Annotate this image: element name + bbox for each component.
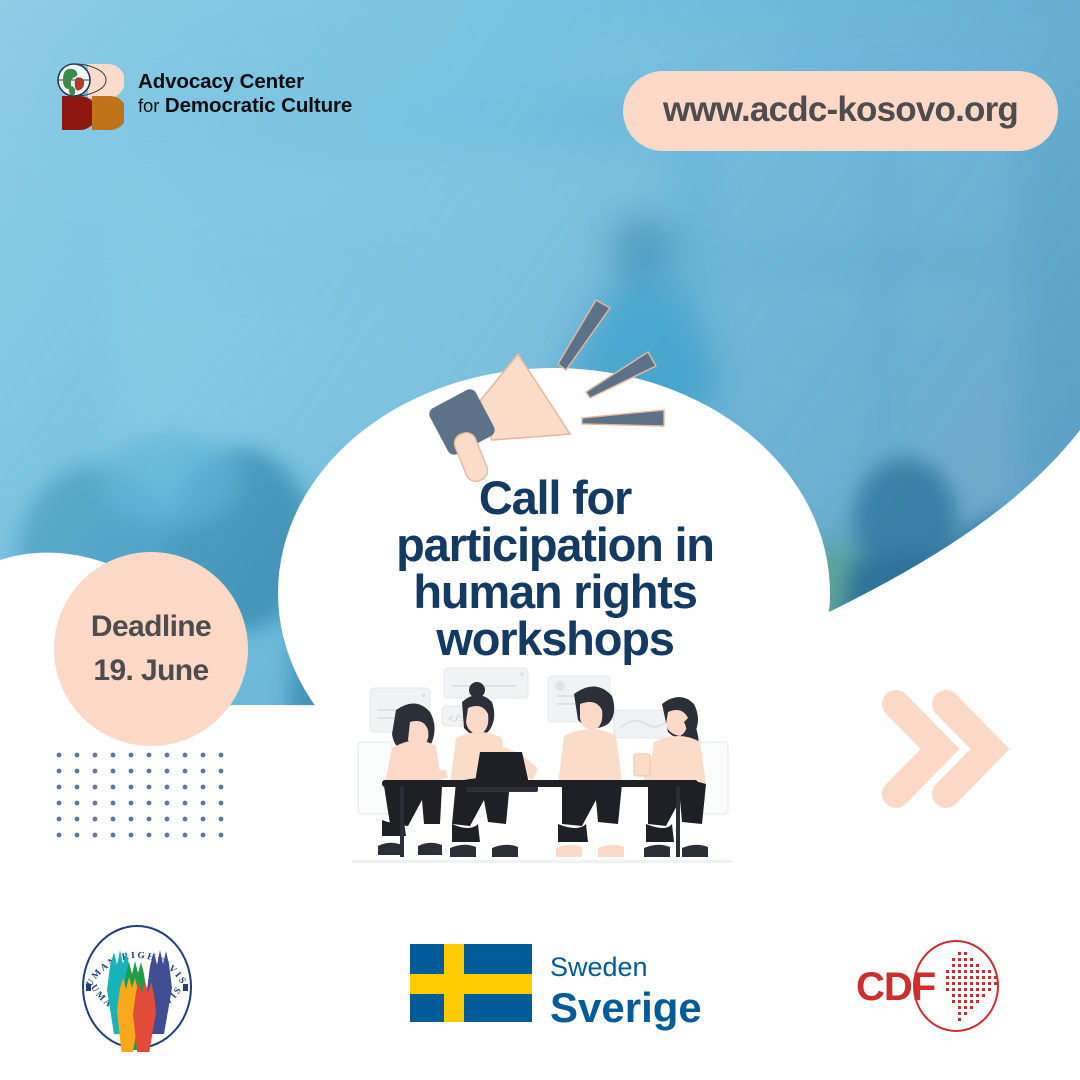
deadline-badge: Deadline 19. June — [54, 552, 248, 746]
headline-line-4: workshops — [280, 615, 830, 662]
poster-canvas: Advocacy Center for Democratic Culture w… — [0, 0, 1080, 1080]
logo-line-1: Advocacy Center — [138, 70, 352, 94]
svg-text:Sweden: Sweden — [550, 952, 648, 982]
website-url-pill[interactable]: www.acdc-kosovo.org — [623, 71, 1058, 151]
logo-line-2: for Democratic Culture — [138, 94, 352, 118]
partner-logo-cdf: CDF — [852, 938, 1032, 1034]
double-chevron-right-icon — [878, 684, 1018, 814]
deadline-label: Deadline — [91, 610, 211, 644]
headline-line-2: participation in — [280, 521, 830, 568]
deadline-date: 19. June — [93, 654, 208, 688]
svg-text:CDF: CDF — [856, 965, 935, 1009]
dot-grid-pattern — [56, 752, 228, 838]
globe-dc-monogram-icon — [52, 58, 124, 130]
headline-line-3: human rights — [280, 568, 830, 615]
page-title: Call for participation in human rights w… — [280, 474, 830, 662]
partner-logos-footer: HUMAN RIGHTIVISM HUMAN RIGHTIVISM — [0, 900, 1080, 1080]
acdc-logo-text: Advocacy Center for Democratic Culture — [138, 70, 352, 118]
partner-logo-sweden-sverige: Sweden Sverige — [410, 940, 700, 1032]
sweden-flag-icon — [410, 944, 532, 1022]
svg-text:Sverige: Sverige — [550, 984, 700, 1031]
headline-line-1: Call for — [280, 474, 830, 521]
acdc-logo[interactable]: Advocacy Center for Democratic Culture — [52, 58, 352, 130]
poster-header: Advocacy Center for Democratic Culture w… — [0, 0, 1080, 180]
people-at-table-illustration: </> — [352, 660, 732, 870]
megaphone-icon — [400, 282, 700, 482]
logo-for-word: for — [138, 95, 159, 116]
logo-line-2-rest: Democratic Culture — [165, 94, 352, 117]
cdf-dotted-map-icon — [946, 952, 997, 1021]
partner-logo-human-rightivism: HUMAN RIGHTIVISM HUMAN RIGHTIVISM — [62, 922, 212, 1052]
